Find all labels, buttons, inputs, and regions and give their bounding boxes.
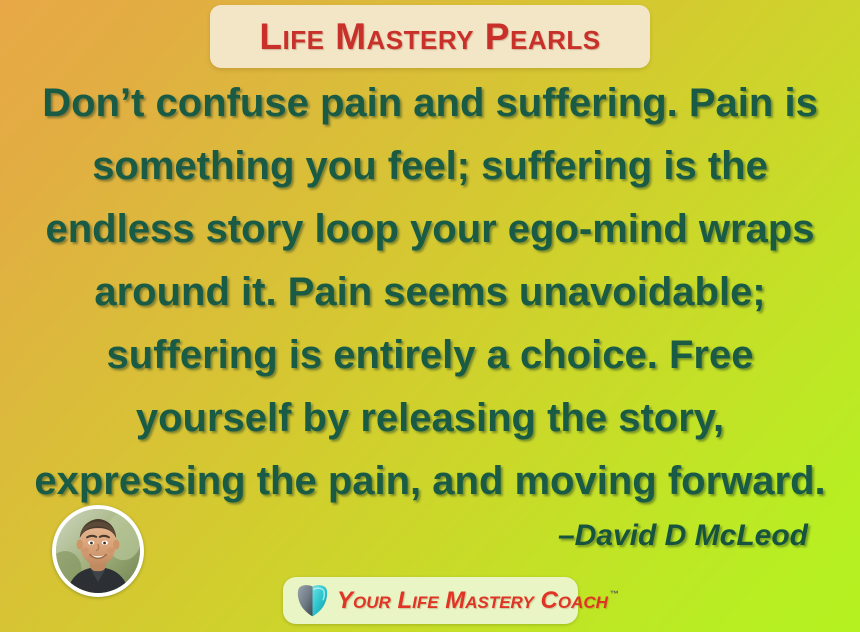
quote-line: suffering is entirely a choice. Free	[14, 324, 846, 387]
quote-line: yourself by releasing the story,	[14, 387, 846, 450]
header-banner: Life Mastery Pearls	[210, 5, 650, 68]
quote-line: expressing the pain, and moving forward.	[14, 450, 846, 513]
brand-logo[interactable]: Your Life Mastery Coach ™	[283, 577, 578, 624]
quote-line: around it. Pain seems unavoidable;	[14, 261, 846, 324]
avatar	[52, 505, 144, 597]
quote-line: Don’t confuse pain and suffering. Pain i…	[14, 72, 846, 135]
quote-line: endless story loop your ego-mind wraps	[14, 198, 846, 261]
quote-line: something you feel; suffering is the	[14, 135, 846, 198]
logo-text-wrap: Your Life Mastery Coach ™	[337, 589, 619, 613]
quote-card: Life Mastery Pearls Don’t confuse pain a…	[0, 0, 860, 632]
quote-attribution: –David D McLeod	[558, 521, 808, 551]
logo-text: Your Life Mastery Coach	[337, 589, 608, 613]
banner-title: Life Mastery Pearls	[259, 18, 600, 55]
shield-heart-icon	[295, 583, 330, 618]
avatar-photo-icon	[56, 509, 140, 593]
quote-text: Don’t confuse pain and suffering. Pain i…	[0, 72, 860, 513]
trademark-symbol: ™	[610, 590, 619, 599]
